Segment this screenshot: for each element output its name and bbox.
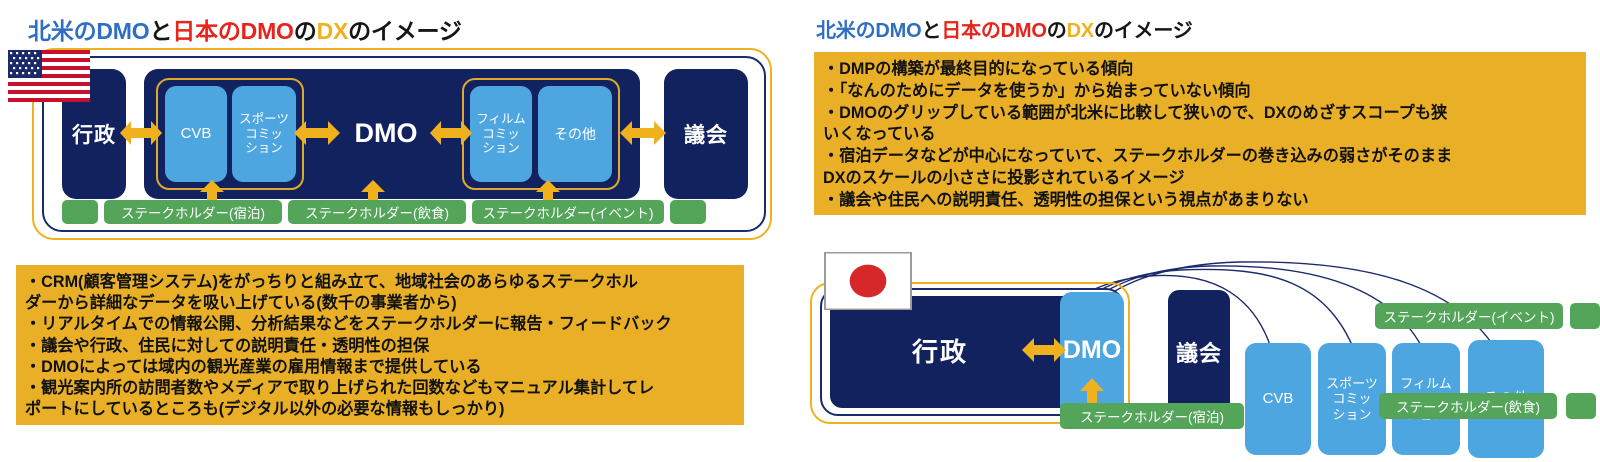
us-flag-icon: [8, 50, 90, 102]
us-sports-commission-box[interactable]: スポーツ コミッ ション: [232, 86, 296, 182]
jp-cvb-label: CVB: [1263, 390, 1294, 408]
us-sports-line2: コミッ: [245, 127, 283, 142]
jp-gikai-label: 議会: [1168, 290, 1230, 414]
jp-sports-line2: コミッ: [1332, 391, 1371, 406]
jp-sports-line3: ション: [1332, 407, 1371, 422]
note-right-line-5: DXのスケールの小ささに投影されているイメージ: [823, 168, 1576, 190]
jp-film-line1: フィルム: [1400, 376, 1451, 391]
title-seg-north-america: 北米のDMO: [28, 18, 149, 44]
page-title-right: 北米のDMOと日本のDMOのDXのイメージ: [816, 14, 1193, 43]
note-right-line-4: ・宿泊データなどが中心になっていて、ステークホルダーの巻き込みの弱さがそのまま: [823, 146, 1576, 168]
page-title-left: 北米のDMOと日本のDMOのDXのイメージ: [28, 12, 462, 46]
jp-gyousei-label: 行政: [880, 320, 1000, 380]
note-left-line-3: ・議会や行政、住民に対しての説明責任・透明性の担保: [25, 336, 734, 357]
us-gikai-label: 議会: [664, 69, 748, 199]
title2-seg-north-america: 北米のDMO: [816, 20, 921, 42]
panel-north-america: 北米のDMOと日本のDMOのDXのイメージ 行政 CVB スポーツ コミッ ショ…: [0, 0, 800, 462]
note-right-line-0: ・DMPの構築が最終目的になっている傾向: [823, 59, 1576, 81]
title-seg-image: のイメージ: [348, 18, 462, 44]
us-sports-line1: スポーツ: [239, 112, 289, 127]
jp-stakeholder-food[interactable]: ステークホルダー(飲食): [1379, 393, 1557, 419]
us-stakeholder-lodging[interactable]: ステークホルダー(宿泊): [104, 200, 282, 224]
jp-flag-icon: [824, 252, 912, 310]
us-arrow-dmo-film: [430, 116, 472, 150]
jp-stakeholder-lodging[interactable]: ステークホルダー(宿泊): [1060, 403, 1244, 429]
title2-seg-japan: 日本のDMO: [941, 20, 1046, 42]
note-left-line-6: ポートにしているところも(デジタル以外の必要な情報もしっかり): [25, 399, 734, 420]
us-stakeholder-food-label: ステークホルダー(飲食): [305, 202, 449, 222]
us-green-cap-right: [670, 200, 706, 224]
us-stakeholder-lodging-label: ステークホルダー(宿泊): [121, 202, 265, 222]
jp-stakeholder-lodging-label: ステークホルダー(宿泊): [1080, 406, 1224, 426]
note-japan: ・DMPの構築が最終目的になっている傾向 ・「なんのためにデータを使うか」から始…: [814, 52, 1586, 215]
us-film-line1: フィルム: [476, 112, 526, 127]
us-other-box[interactable]: その他: [538, 86, 612, 182]
title-seg-japan: 日本のDMO: [172, 18, 293, 44]
note-right-line-1: ・「なんのためにデータを使うか」から始まっていない傾向: [823, 81, 1576, 103]
title2-seg-no: の: [1047, 20, 1067, 42]
us-arrow-other-gikai: [620, 116, 666, 150]
note-north-america: ・CRM(顧客管理システム)をがっちりと組み立て、地域社会のあらゆるステークホル…: [16, 265, 744, 425]
us-film-line3: ション: [482, 141, 520, 156]
note-left-line-2: ・リアルタイムでの情報公開、分析結果などをステークホルダーに報告・フィードバック: [25, 314, 734, 335]
note-right-line-6: ・議会や住民への説明責任、透明性の担保という視点があまりない: [823, 190, 1576, 212]
us-film-line2: コミッ: [482, 127, 520, 142]
us-stakeholder-event-label: ステークホルダー(イベント): [483, 202, 654, 222]
note-left-line-1: ダーから詳細なデータを吸い上げている(数千の事業者から): [25, 293, 734, 314]
us-other-label: その他: [554, 126, 596, 142]
us-film-commission-box[interactable]: フィルム コミッ ション: [470, 86, 532, 182]
title2-seg-dx: DX: [1067, 20, 1094, 42]
note-left-line-4: ・DMOによっては域内の観光産業の雇用情報まで提供している: [25, 357, 734, 378]
title-seg-and: と: [149, 18, 172, 44]
jp-sports-commission-box[interactable]: スポーツ コミッ ション: [1318, 343, 1386, 455]
note-left-line-0: ・CRM(顧客管理システム)をがっちりと組み立て、地域社会のあらゆるステークホル: [25, 272, 734, 293]
jp-stakeholder-event-label: ステークホルダー(イベント): [1384, 306, 1555, 326]
jp-cvb-box[interactable]: CVB: [1245, 343, 1311, 455]
us-sports-line3: ション: [245, 141, 283, 156]
us-dmo-label: DMO: [334, 104, 438, 162]
jp-green-cap-top: [1570, 303, 1600, 329]
us-stakeholder-event[interactable]: ステークホルダー(イベント): [472, 200, 664, 224]
title2-seg-and: と: [921, 20, 941, 42]
note-right-line-3: いくなっている: [823, 124, 1576, 146]
title-seg-dx: DX: [317, 18, 349, 44]
note-left-line-5: ・観光案内所の訪問者数やメディアで取り上げられた回数などもマニュアル集計してレ: [25, 378, 734, 399]
us-arrow-sports-dmo: [294, 116, 340, 150]
title-seg-no: の: [294, 18, 317, 44]
us-cvb-box[interactable]: CVB: [165, 86, 227, 182]
jp-sports-line1: スポーツ: [1326, 376, 1378, 391]
us-green-cap-left: [62, 200, 98, 224]
jp-arrow-gyousei-dmo: [1022, 333, 1066, 367]
note-right-line-2: ・DMOのグリップしている範囲が北米に比較して狭いので、DXのめざすスコープも狭: [823, 103, 1576, 125]
title2-seg-image: のイメージ: [1094, 20, 1193, 42]
jp-stakeholder-food-label: ステークホルダー(飲食): [1396, 396, 1540, 416]
us-stakeholder-food[interactable]: ステークホルダー(飲食): [288, 200, 466, 224]
us-arrow-gyousei-cvb: [120, 116, 162, 150]
jp-green-cap-bottom: [1566, 393, 1596, 419]
jp-stakeholder-event[interactable]: ステークホルダー(イベント): [1375, 303, 1563, 329]
us-cvb-label: CVB: [181, 125, 212, 143]
